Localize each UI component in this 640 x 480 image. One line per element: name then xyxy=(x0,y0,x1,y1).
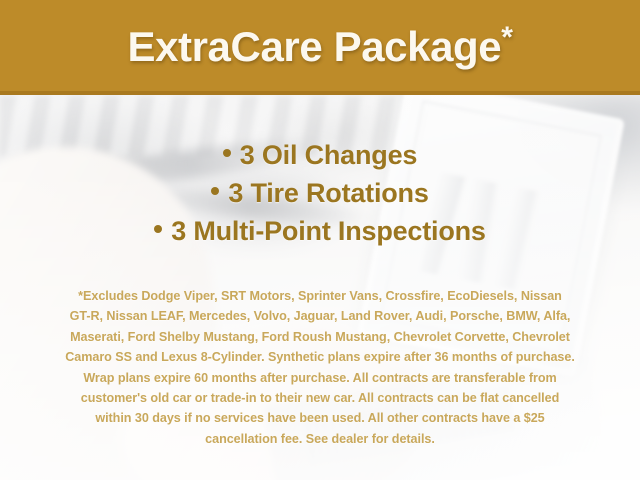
page-title-text: ExtraCare Package xyxy=(127,23,501,70)
benefit-label: 3 Multi-Point Inspections xyxy=(171,216,486,246)
list-item: 3 Multi-Point Inspections xyxy=(0,212,640,250)
page-title: ExtraCare Package* xyxy=(127,23,512,68)
extracare-package-promo-card: ExtraCare Package* 3 Oil Changes 3 Tire … xyxy=(0,0,640,480)
disclaimer-line: within 30 days if no services have been … xyxy=(26,408,614,428)
disclaimer-line: GT-R, Nissan LEAF, Mercedes, Volvo, Jagu… xyxy=(26,306,614,326)
disclaimer-line: customer's old car or trade-in to their … xyxy=(26,388,614,408)
list-item: 3 Oil Changes xyxy=(0,136,640,174)
bullet-dot-icon xyxy=(154,225,162,233)
benefit-label: 3 Tire Rotations xyxy=(228,178,428,208)
disclaimer-line: *Excludes Dodge Viper, SRT Motors, Sprin… xyxy=(26,286,614,306)
benefit-label: 3 Oil Changes xyxy=(240,140,417,170)
disclaimer-line: Wrap plans expire 60 months after purcha… xyxy=(26,368,614,388)
header-bar: ExtraCare Package* xyxy=(0,0,640,95)
list-item: 3 Tire Rotations xyxy=(0,174,640,212)
bullet-dot-icon xyxy=(211,187,219,195)
disclaimer-line: cancellation fee. See dealer for details… xyxy=(26,429,614,449)
disclaimer-line: Camaro SS and Lexus 8-Cylinder. Syntheti… xyxy=(26,347,614,367)
bullet-dot-icon xyxy=(223,149,231,157)
benefits-list: 3 Oil Changes 3 Tire Rotations 3 Multi-P… xyxy=(0,136,640,250)
page-title-asterisk: * xyxy=(501,21,512,54)
disclaimer-line: Maserati, Ford Shelby Mustang, Ford Rous… xyxy=(26,327,614,347)
disclaimer-text: *Excludes Dodge Viper, SRT Motors, Sprin… xyxy=(26,286,614,449)
